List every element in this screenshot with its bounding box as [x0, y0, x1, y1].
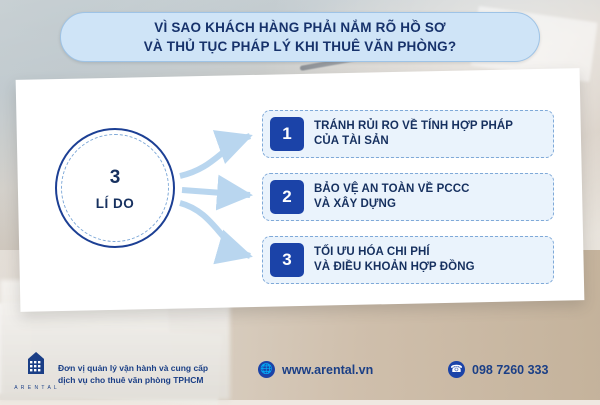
circle-inner-dashed: 3 LÍ DO — [61, 134, 169, 242]
globe-icon: 🌐 — [258, 361, 275, 378]
reason-item-3: 3 TỐI ƯU HÓA CHI PHÍ VÀ ĐIỀU KHOẢN HỢP Đ… — [262, 236, 554, 284]
reason-badge-2: 2 — [270, 180, 304, 214]
reason-text-3-line-2: VÀ ĐIỀU KHOẢN HỢP ĐỒNG — [314, 260, 475, 275]
reason-text-3: TỐI ƯU HÓA CHI PHÍ VÀ ĐIỀU KHOẢN HỢP ĐỒN… — [314, 245, 475, 275]
footer-website-text: www.arental.vn — [282, 363, 373, 377]
reason-text-1: TRÁNH RỦI RO VỀ TÍNH HỢP PHÁP CỦA TÀI SẢ… — [314, 119, 513, 149]
circle-number: 3 — [110, 166, 121, 190]
footer-description-line-1: Đơn vị quản lý vận hành và cung cấp — [58, 362, 208, 374]
reason-text-1-line-2: CỦA TÀI SẢN — [314, 134, 513, 149]
brand-logo: A R E N T A L — [14, 350, 58, 394]
building-logo-icon — [14, 350, 58, 376]
reason-text-2-line-2: VÀ XÂY DỰNG — [314, 197, 470, 212]
reason-badge-1: 1 — [270, 117, 304, 151]
footer-description: Đơn vị quản lý vận hành và cung cấp dịch… — [58, 362, 208, 386]
reason-text-1-line-1: TRÁNH RỦI RO VỀ TÍNH HỢP PHÁP — [314, 119, 513, 134]
brand-wordmark: A R E N T A L — [14, 385, 57, 391]
phone-icon: ☎ — [448, 361, 465, 378]
footer-phone-text: 098 7260 333 — [472, 363, 548, 377]
reason-item-1: 1 TRÁNH RỦI RO VỀ TÍNH HỢP PHÁP CỦA TÀI … — [262, 110, 554, 158]
reason-text-2: BẢO VỆ AN TOÀN VỀ PCCC VÀ XÂY DỰNG — [314, 182, 470, 212]
reason-badge-3: 3 — [270, 243, 304, 277]
reason-text-2-line-1: BẢO VỆ AN TOÀN VỀ PCCC — [314, 182, 470, 197]
footer-description-line-2: dịch vụ cho thuê văn phòng TPHCM — [58, 374, 208, 386]
footer-bar: A R E N T A L Đơn vị quản lý vận hành và… — [0, 342, 600, 400]
reason-count-circle: 3 LÍ DO — [55, 128, 175, 248]
reason-text-3-line-1: TỐI ƯU HÓA CHI PHÍ — [314, 245, 475, 260]
circle-label: LÍ DO — [96, 196, 135, 211]
reason-item-2: 2 BẢO VỆ AN TOÀN VỀ PCCC VÀ XÂY DỰNG — [262, 173, 554, 221]
reasons-diagram: 3 LÍ DO 1 TRÁNH RỦI RO VỀ TÍNH HỢP PHÁP … — [0, 0, 600, 400]
footer-website[interactable]: 🌐 www.arental.vn — [258, 361, 373, 378]
footer-phone[interactable]: ☎ 098 7260 333 — [448, 361, 548, 378]
